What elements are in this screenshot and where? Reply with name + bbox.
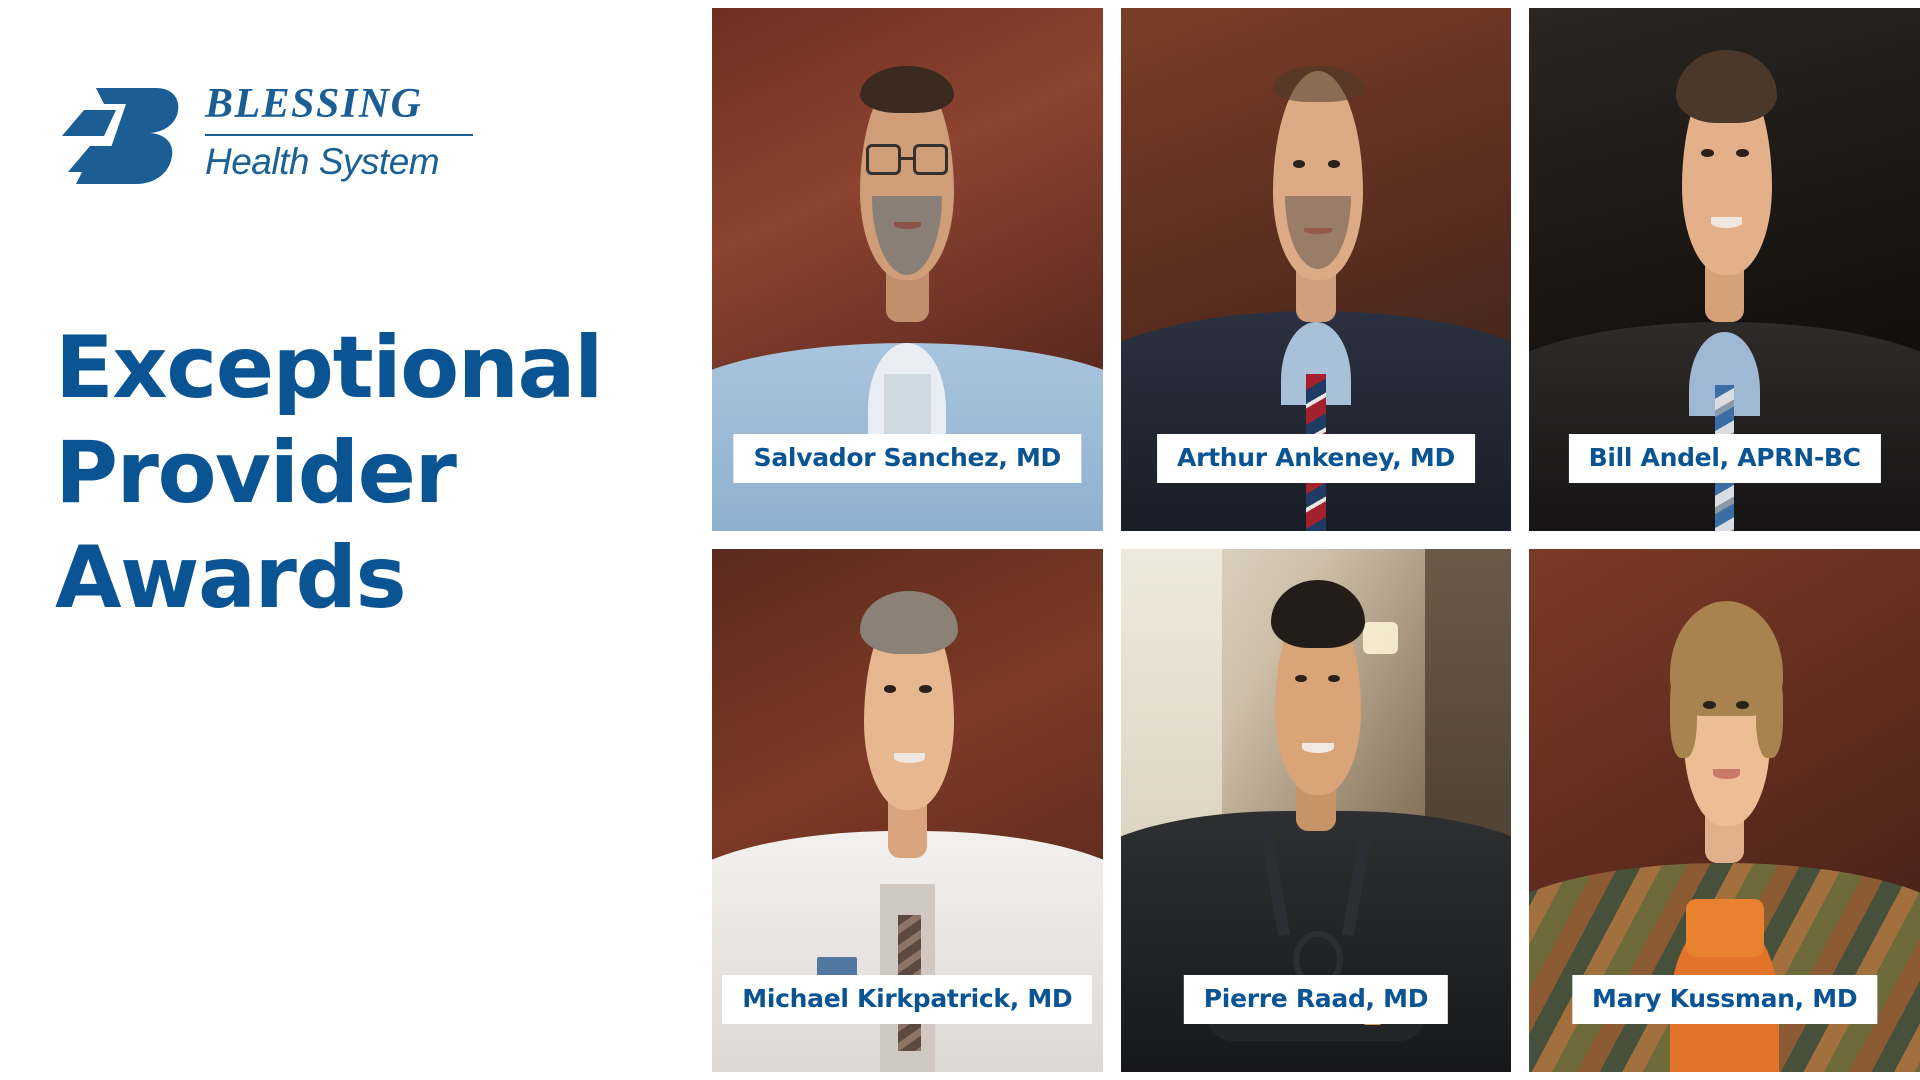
provider-name: Pierre Raad, MD — [1204, 984, 1428, 1013]
provider-card-bill-andel[interactable]: Bill Andel, APRN-BC — [1529, 8, 1920, 531]
provider-photo-grid: Salvador Sanchez, MD Arthur Ankeney, MD — [712, 8, 1920, 1072]
provider-name: Michael Kirkpatrick, MD — [742, 984, 1072, 1013]
nameplate-mary-kussman: Mary Kussman, MD — [1572, 975, 1877, 1024]
headline-line-3: Awards — [55, 526, 675, 631]
brand-wordmark: BLESSING Health System — [205, 78, 480, 196]
brand-logo: BLESSING Health System — [60, 78, 480, 198]
headline-line-2: Provider — [55, 421, 675, 526]
nameplate-michael-kirkpatrick: Michael Kirkpatrick, MD — [722, 975, 1092, 1024]
provider-card-pierre-raad[interactable]: Pierre Raad, MD — [1121, 549, 1512, 1072]
nameplate-bill-andel: Bill Andel, APRN-BC — [1569, 434, 1881, 483]
brand-name: BLESSING — [205, 78, 480, 130]
headline-line-1: Exceptional — [55, 316, 675, 421]
nameplate-arthur-ankeney: Arthur Ankeney, MD — [1157, 434, 1475, 483]
provider-name: Bill Andel, APRN-BC — [1589, 443, 1861, 472]
provider-card-salvador-sanchez[interactable]: Salvador Sanchez, MD — [712, 8, 1103, 531]
blessing-b-logo-mark — [60, 80, 180, 192]
left-panel: BLESSING Health System Exceptional Provi… — [0, 0, 700, 1080]
provider-name: Arthur Ankeney, MD — [1177, 443, 1455, 472]
provider-name: Salvador Sanchez, MD — [754, 443, 1061, 472]
brand-tagline: Health System — [205, 139, 480, 185]
page-title: Exceptional Provider Awards — [55, 316, 675, 631]
nameplate-pierre-raad: Pierre Raad, MD — [1184, 975, 1448, 1024]
nameplate-salvador-sanchez: Salvador Sanchez, MD — [734, 434, 1081, 483]
provider-card-mary-kussman[interactable]: Mary Kussman, MD — [1529, 549, 1920, 1072]
provider-card-michael-kirkpatrick[interactable]: Michael Kirkpatrick, MD — [712, 549, 1103, 1072]
poster-canvas: BLESSING Health System Exceptional Provi… — [0, 0, 1920, 1080]
brand-divider — [205, 134, 473, 136]
provider-card-arthur-ankeney[interactable]: Arthur Ankeney, MD — [1121, 8, 1512, 531]
provider-name: Mary Kussman, MD — [1592, 984, 1857, 1013]
